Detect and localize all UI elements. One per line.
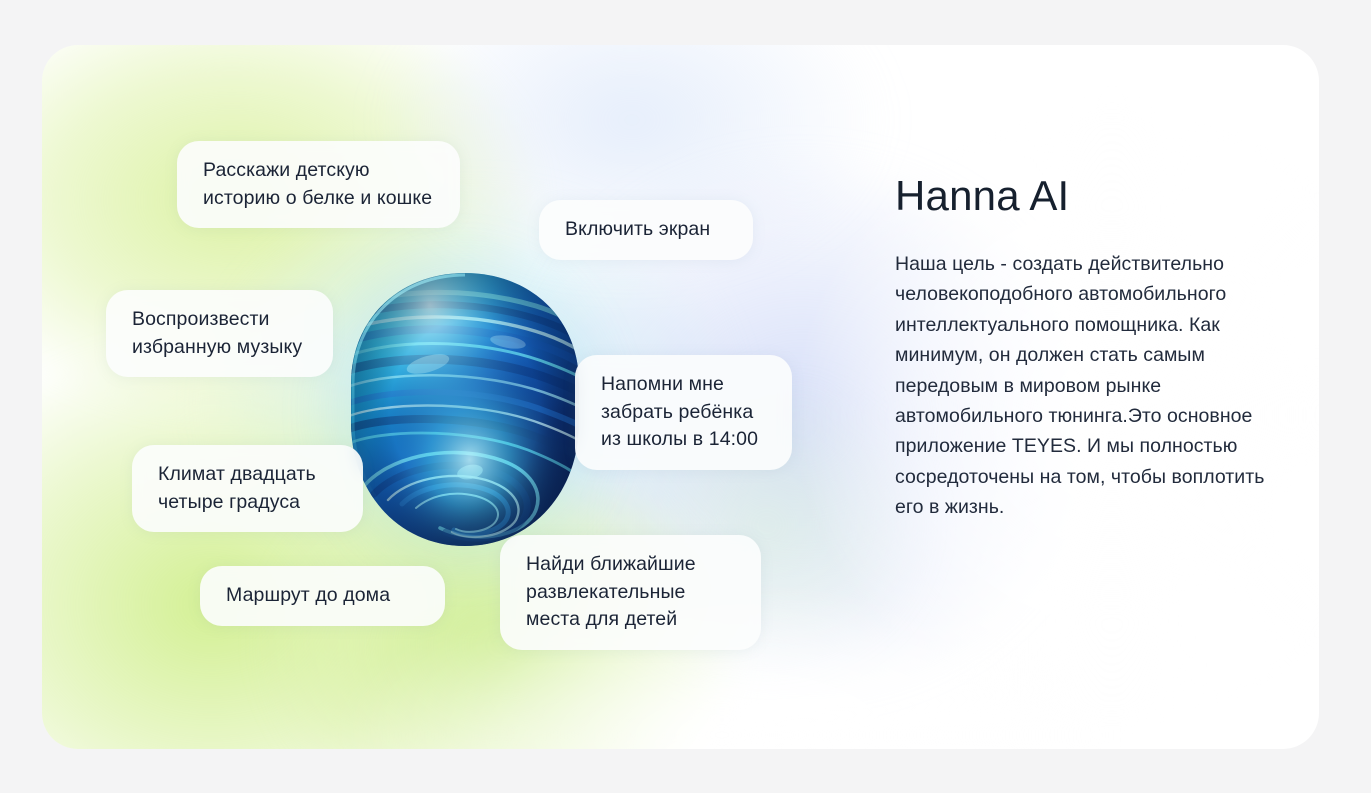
suggestion-bubble-route[interactable]: Маршрут до дома [200,566,445,626]
suggestion-bubble-story[interactable]: Расскажи детскую историю о белке и кошке [177,141,460,228]
suggestion-bubble-reminder[interactable]: Напомни мне забрать ребёнка из школы в 1… [575,355,792,470]
suggestion-bubble-places[interactable]: Найди ближайшие развлекательные места дл… [500,535,761,650]
bubble-text: Напомни мне забрать ребёнка из школы в 1… [601,371,758,454]
page-root: Расскажи детскую историю о белке и кошке… [0,0,1371,793]
bubble-text: Расскажи детскую историю о белке и кошке [203,157,432,212]
bubble-text: Воспроизвести избранную музыку [132,306,302,361]
product-description: Наша цель - создать действительно челове… [895,249,1295,523]
suggestion-bubble-music[interactable]: Воспроизвести избранную музыку [106,290,333,377]
bubble-text: Маршрут до дома [226,582,390,610]
suggestion-bubble-screen[interactable]: Включить экран [539,200,753,260]
suggestion-bubble-climate[interactable]: Климат двадцать четыре градуса [132,445,363,532]
hanna-ai-orb-icon [348,272,582,548]
orb-container [348,272,582,548]
hero-card: Расскажи детскую историю о белке и кошке… [42,45,1319,749]
bubble-text: Климат двадцать четыре градуса [158,461,316,516]
info-panel: Hanna AI Наша цель - создать действитель… [895,175,1295,523]
bubble-text: Найди ближайшие развлекательные места дл… [526,551,696,634]
bubble-text: Включить экран [565,216,710,244]
product-title: Hanna AI [895,175,1295,217]
